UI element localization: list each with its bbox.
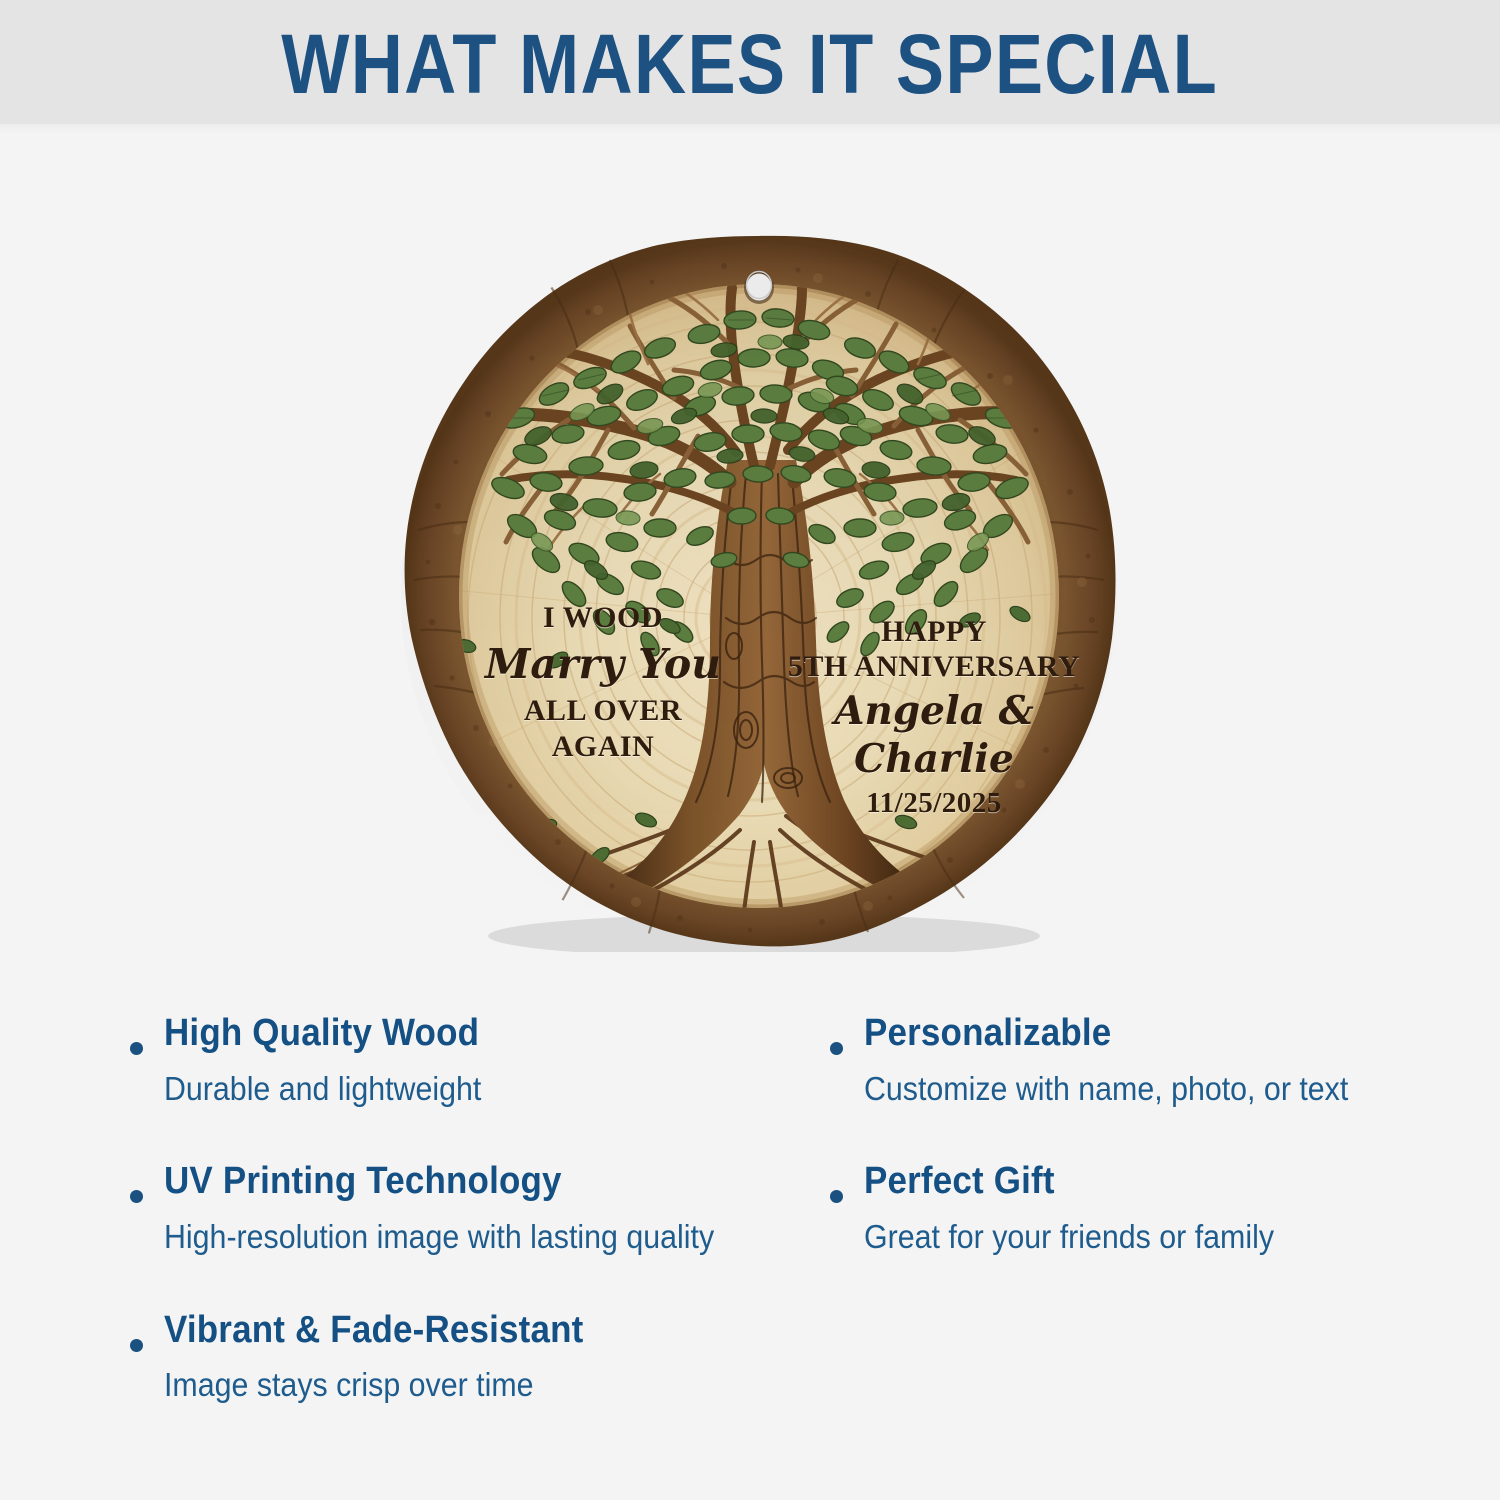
feature-desc: Image stays crisp over time (164, 1364, 736, 1407)
feature-desc: Durable and lightweight (164, 1068, 736, 1111)
feature-item-vibrant-fade-resistant: Vibrant & Fade-Resistant Image stays cri… (126, 1307, 786, 1407)
feature-title: UV Printing Technology (164, 1158, 736, 1206)
feature-desc: High-resolution image with lasting quali… (164, 1216, 736, 1259)
features-section: High Quality Wood Durable and lightweigh… (0, 1010, 1500, 1450)
bullet-icon (130, 1042, 143, 1055)
feature-title: Personalizable (864, 1010, 1381, 1058)
page-title: WHAT MAKES IT SPECIAL (282, 22, 1219, 106)
feature-desc: Great for your friends or family (864, 1216, 1381, 1259)
bullet-icon (130, 1190, 143, 1203)
feature-title: High Quality Wood (164, 1010, 736, 1058)
feature-item-perfect-gift: Perfect Gift Great for your friends or f… (826, 1158, 1426, 1258)
feature-item-personalizable: Personalizable Customize with name, phot… (826, 1010, 1426, 1110)
bullet-icon (830, 1190, 843, 1203)
feature-desc: Customize with name, photo, or text (864, 1068, 1381, 1111)
product-image-stage: I WOOD Marry You ALL OVER AGAIN HAPPY 5T… (0, 140, 1500, 1000)
feature-title: Vibrant & Fade-Resistant (164, 1307, 736, 1355)
features-column-left: High Quality Wood Durable and lightweigh… (126, 1010, 786, 1455)
bullet-icon (130, 1339, 143, 1352)
header-band: WHAT MAKES IT SPECIAL (0, 0, 1500, 124)
ornament-image: I WOOD Marry You ALL OVER AGAIN HAPPY 5T… (398, 230, 1120, 952)
feature-title: Perfect Gift (864, 1158, 1381, 1206)
bullet-icon (830, 1042, 843, 1055)
features-column-right: Personalizable Customize with name, phot… (826, 1010, 1426, 1307)
feature-item-uv-printing-technology: UV Printing Technology High-resolution i… (126, 1158, 786, 1258)
header-divider (0, 124, 1500, 134)
feature-item-high-quality-wood: High Quality Wood Durable and lightweigh… (126, 1010, 786, 1110)
